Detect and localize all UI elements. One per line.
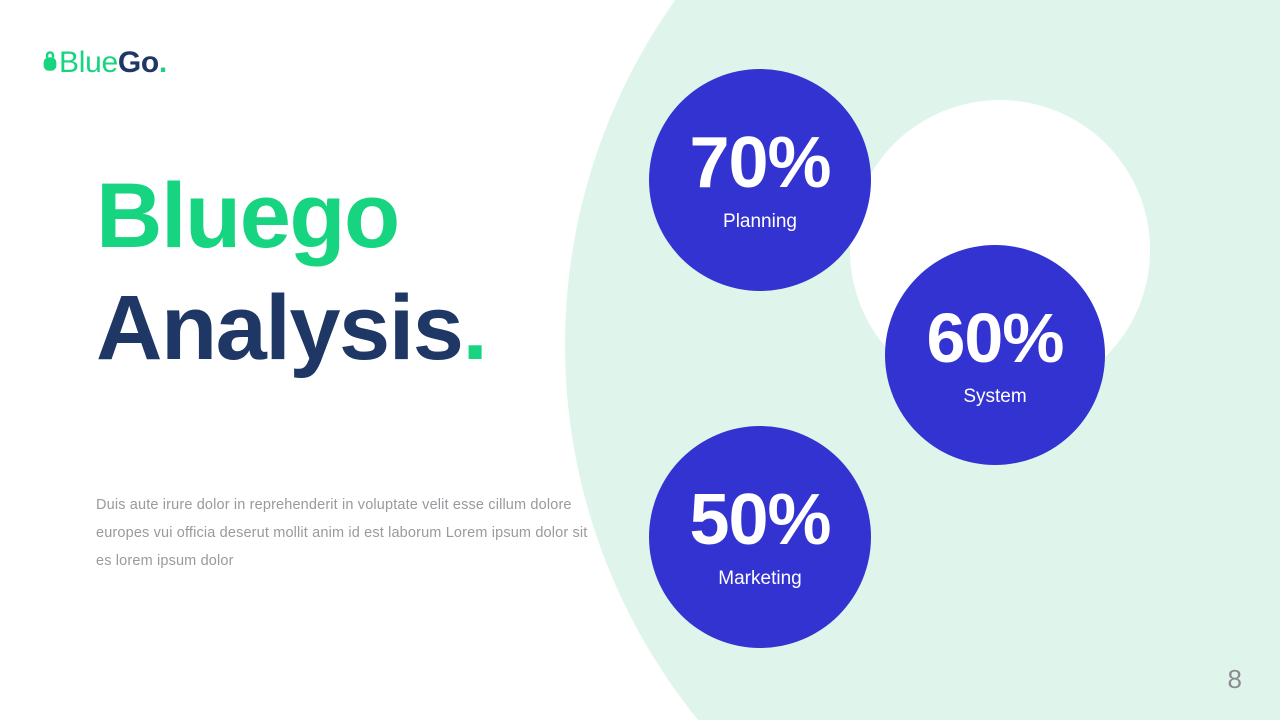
logo-dot: . [159, 46, 167, 79]
stat-value-marketing: 50% [689, 484, 830, 556]
stat-circle-planning[interactable]: 70% Planning [649, 69, 871, 291]
page-title-line-2: Analysis. [96, 272, 566, 384]
slide: BlueGo. Bluego Analysis. Duis aute irure… [0, 0, 1280, 720]
page-title-period: . [462, 277, 486, 379]
logo-text: BlueGo. [59, 48, 167, 78]
stat-label-system: System [963, 386, 1026, 408]
page-number: 8 [1228, 666, 1242, 692]
stat-value-planning: 70% [689, 127, 830, 199]
page-title-line-1: Bluego [96, 160, 566, 272]
stat-circle-system[interactable]: 60% System [885, 245, 1105, 465]
logo[interactable]: BlueGo. [42, 38, 167, 78]
body-paragraph: Duis aute irure dolor in reprehenderit i… [96, 491, 588, 575]
stat-label-planning: Planning [723, 211, 797, 233]
stat-circle-marketing[interactable]: 50% Marketing [649, 426, 871, 648]
page-title-line-2-text: Analysis [96, 277, 462, 379]
stat-label-marketing: Marketing [718, 568, 801, 590]
lock-icon [42, 50, 58, 72]
logo-text-blue: Blue [59, 46, 118, 79]
stat-value-system: 60% [926, 302, 1063, 374]
logo-text-go: Go [118, 46, 159, 79]
page-title: Bluego Analysis. [96, 160, 566, 384]
